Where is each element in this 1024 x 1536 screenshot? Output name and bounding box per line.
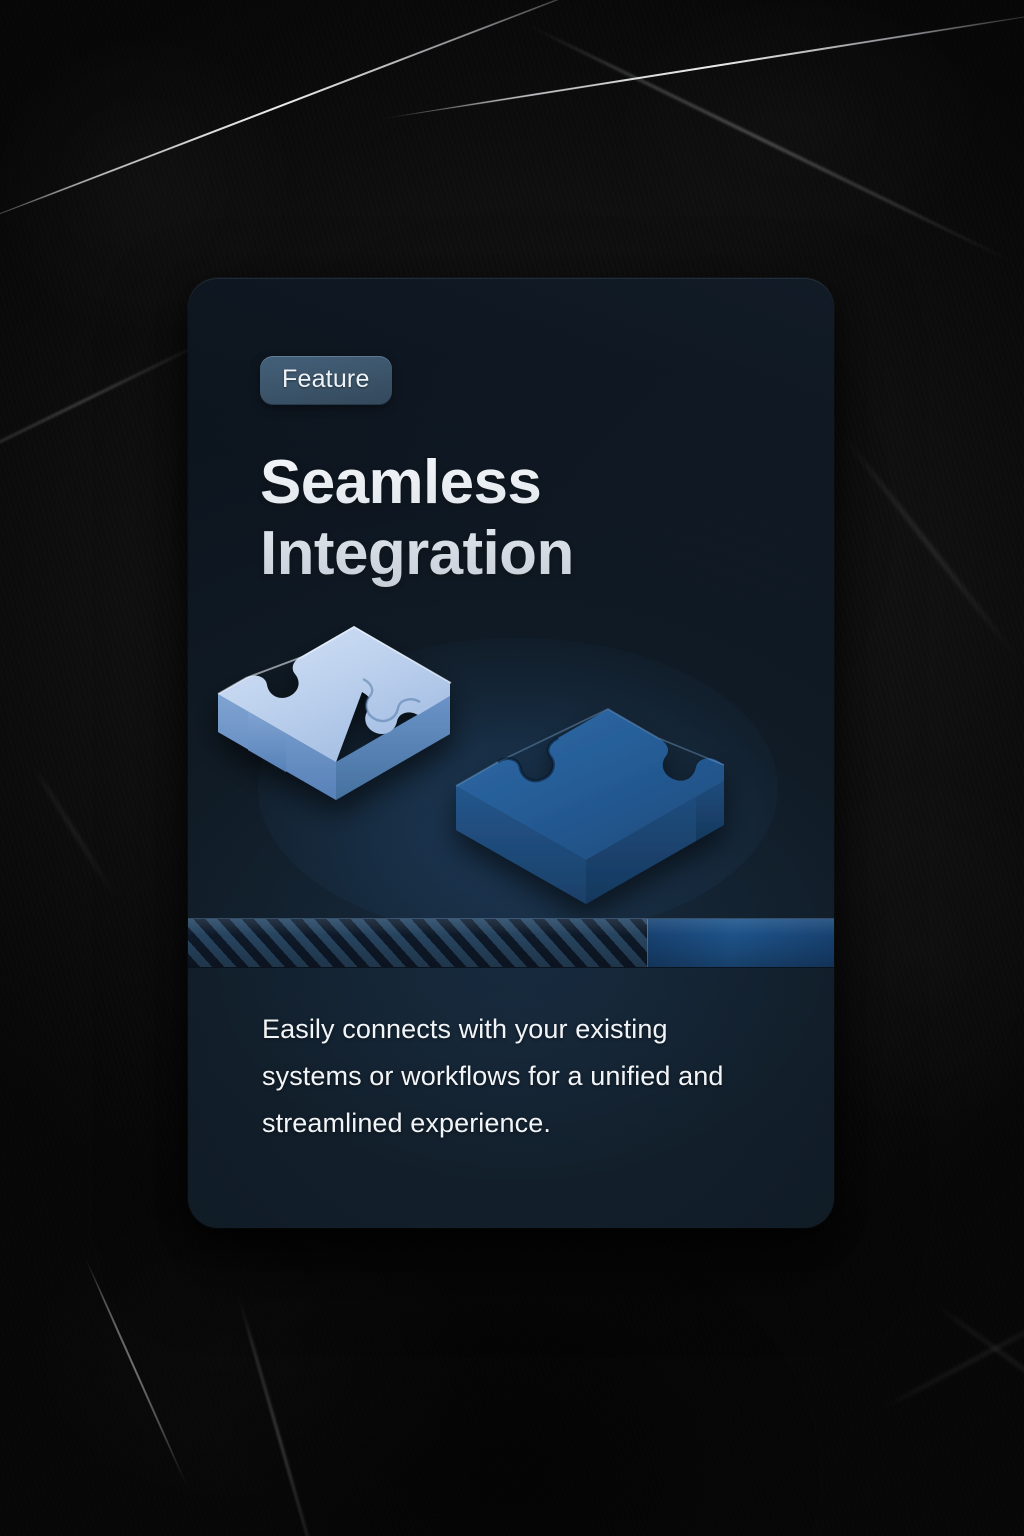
card-title: Seamless Integration (260, 448, 780, 589)
stone-vein (29, 760, 121, 905)
stone-vein (839, 431, 1024, 669)
stone-vein (929, 1300, 1024, 1425)
puzzle-illustration (188, 598, 834, 928)
feature-badge-label: Feature (282, 367, 370, 392)
card-description: Easily connects with your existing syste… (262, 1006, 762, 1147)
diagonal-striped-band (188, 918, 834, 968)
stone-vein (235, 1287, 328, 1536)
stone-vein (0, 0, 633, 230)
stone-vein (85, 1258, 188, 1487)
feature-card[interactable]: Feature Seamless Integration (188, 278, 834, 1228)
poster-canvas: Feature Seamless Integration (0, 0, 1024, 1536)
feature-badge[interactable]: Feature (260, 356, 392, 405)
band-gloss (188, 919, 834, 967)
stone-vein (380, 9, 1024, 120)
